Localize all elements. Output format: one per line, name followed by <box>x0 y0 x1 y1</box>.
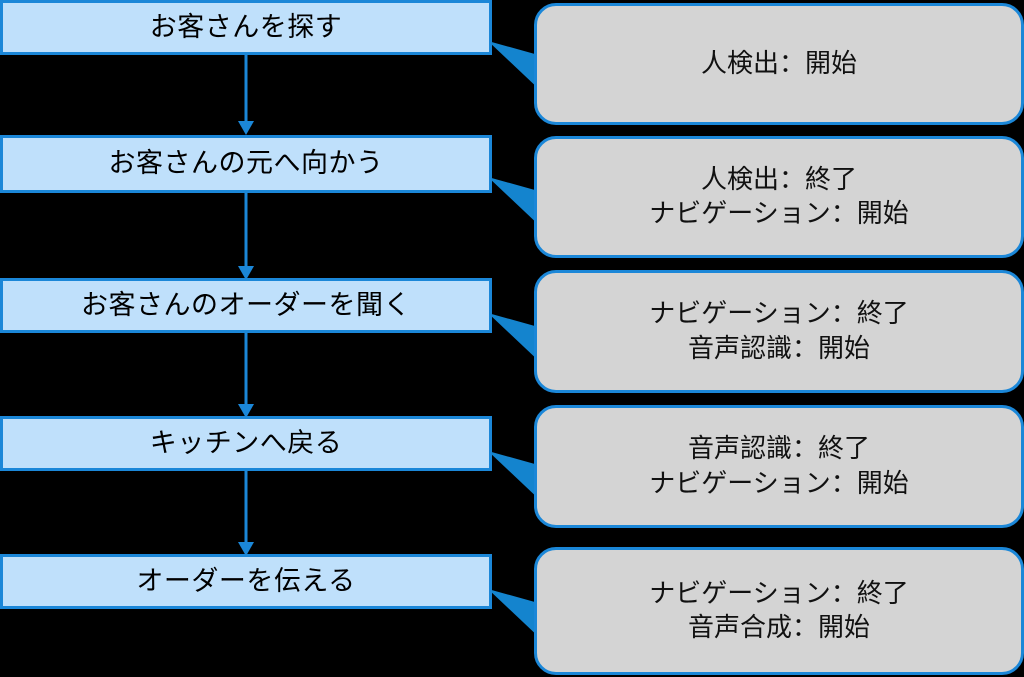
flow-arrow-1-to-2 <box>226 53 266 137</box>
event-box-2-line-1: 人検出：終了 <box>701 163 857 197</box>
event-box-5[interactable]: ナビゲーション：終了 音声合成：開始 <box>534 547 1024 675</box>
process-box-4[interactable]: キッチンへ戻る <box>0 416 492 471</box>
event-box-5-line-1: ナビゲーション：終了 <box>649 577 908 611</box>
event-box-3-line-1: ナビゲーション：終了 <box>649 297 908 331</box>
process-box-4-label: キッチンへ戻る <box>150 429 343 459</box>
event-box-3-line-2: 音声認識：開始 <box>688 332 870 366</box>
process-box-1[interactable]: お客さんを探す <box>0 0 492 55</box>
process-box-2-label: お客さんの元へ向かう <box>109 149 384 179</box>
process-box-5[interactable]: オーダーを伝える <box>0 554 492 609</box>
event-box-2-line-2: ナビゲーション：開始 <box>649 197 908 231</box>
event-box-1[interactable]: 人検出：開始 <box>534 3 1024 125</box>
event-box-2[interactable]: 人検出：終了 ナビゲーション：開始 <box>534 136 1024 258</box>
process-box-2[interactable]: お客さんの元へ向かう <box>0 135 492 193</box>
event-box-5-line-2: 音声合成：開始 <box>688 611 870 645</box>
event-box-4[interactable]: 音声認識：終了 ナビゲーション：開始 <box>534 405 1024 528</box>
flow-arrow-3-to-4 <box>226 330 266 420</box>
event-box-4-line-1: 音声認識：終了 <box>688 432 870 466</box>
event-box-3[interactable]: ナビゲーション：終了 音声認識：開始 <box>534 270 1024 393</box>
flowchart-canvas: お客さんを探す お客さんの元へ向かう お客さんのオーダーを聞く キッチンへ戻る … <box>0 0 1024 677</box>
process-box-3[interactable]: お客さんのオーダーを聞く <box>0 278 492 333</box>
flow-arrow-4-to-5 <box>226 468 266 558</box>
process-box-3-label: お客さんのオーダーを聞く <box>81 291 411 321</box>
process-box-5-label: オーダーを伝える <box>136 567 355 597</box>
event-box-1-line-1: 人検出：開始 <box>701 47 857 81</box>
event-box-4-line-2: ナビゲーション：開始 <box>649 467 908 501</box>
flow-arrow-2-to-3 <box>226 190 266 282</box>
process-box-1-label: お客さんを探す <box>150 13 343 43</box>
